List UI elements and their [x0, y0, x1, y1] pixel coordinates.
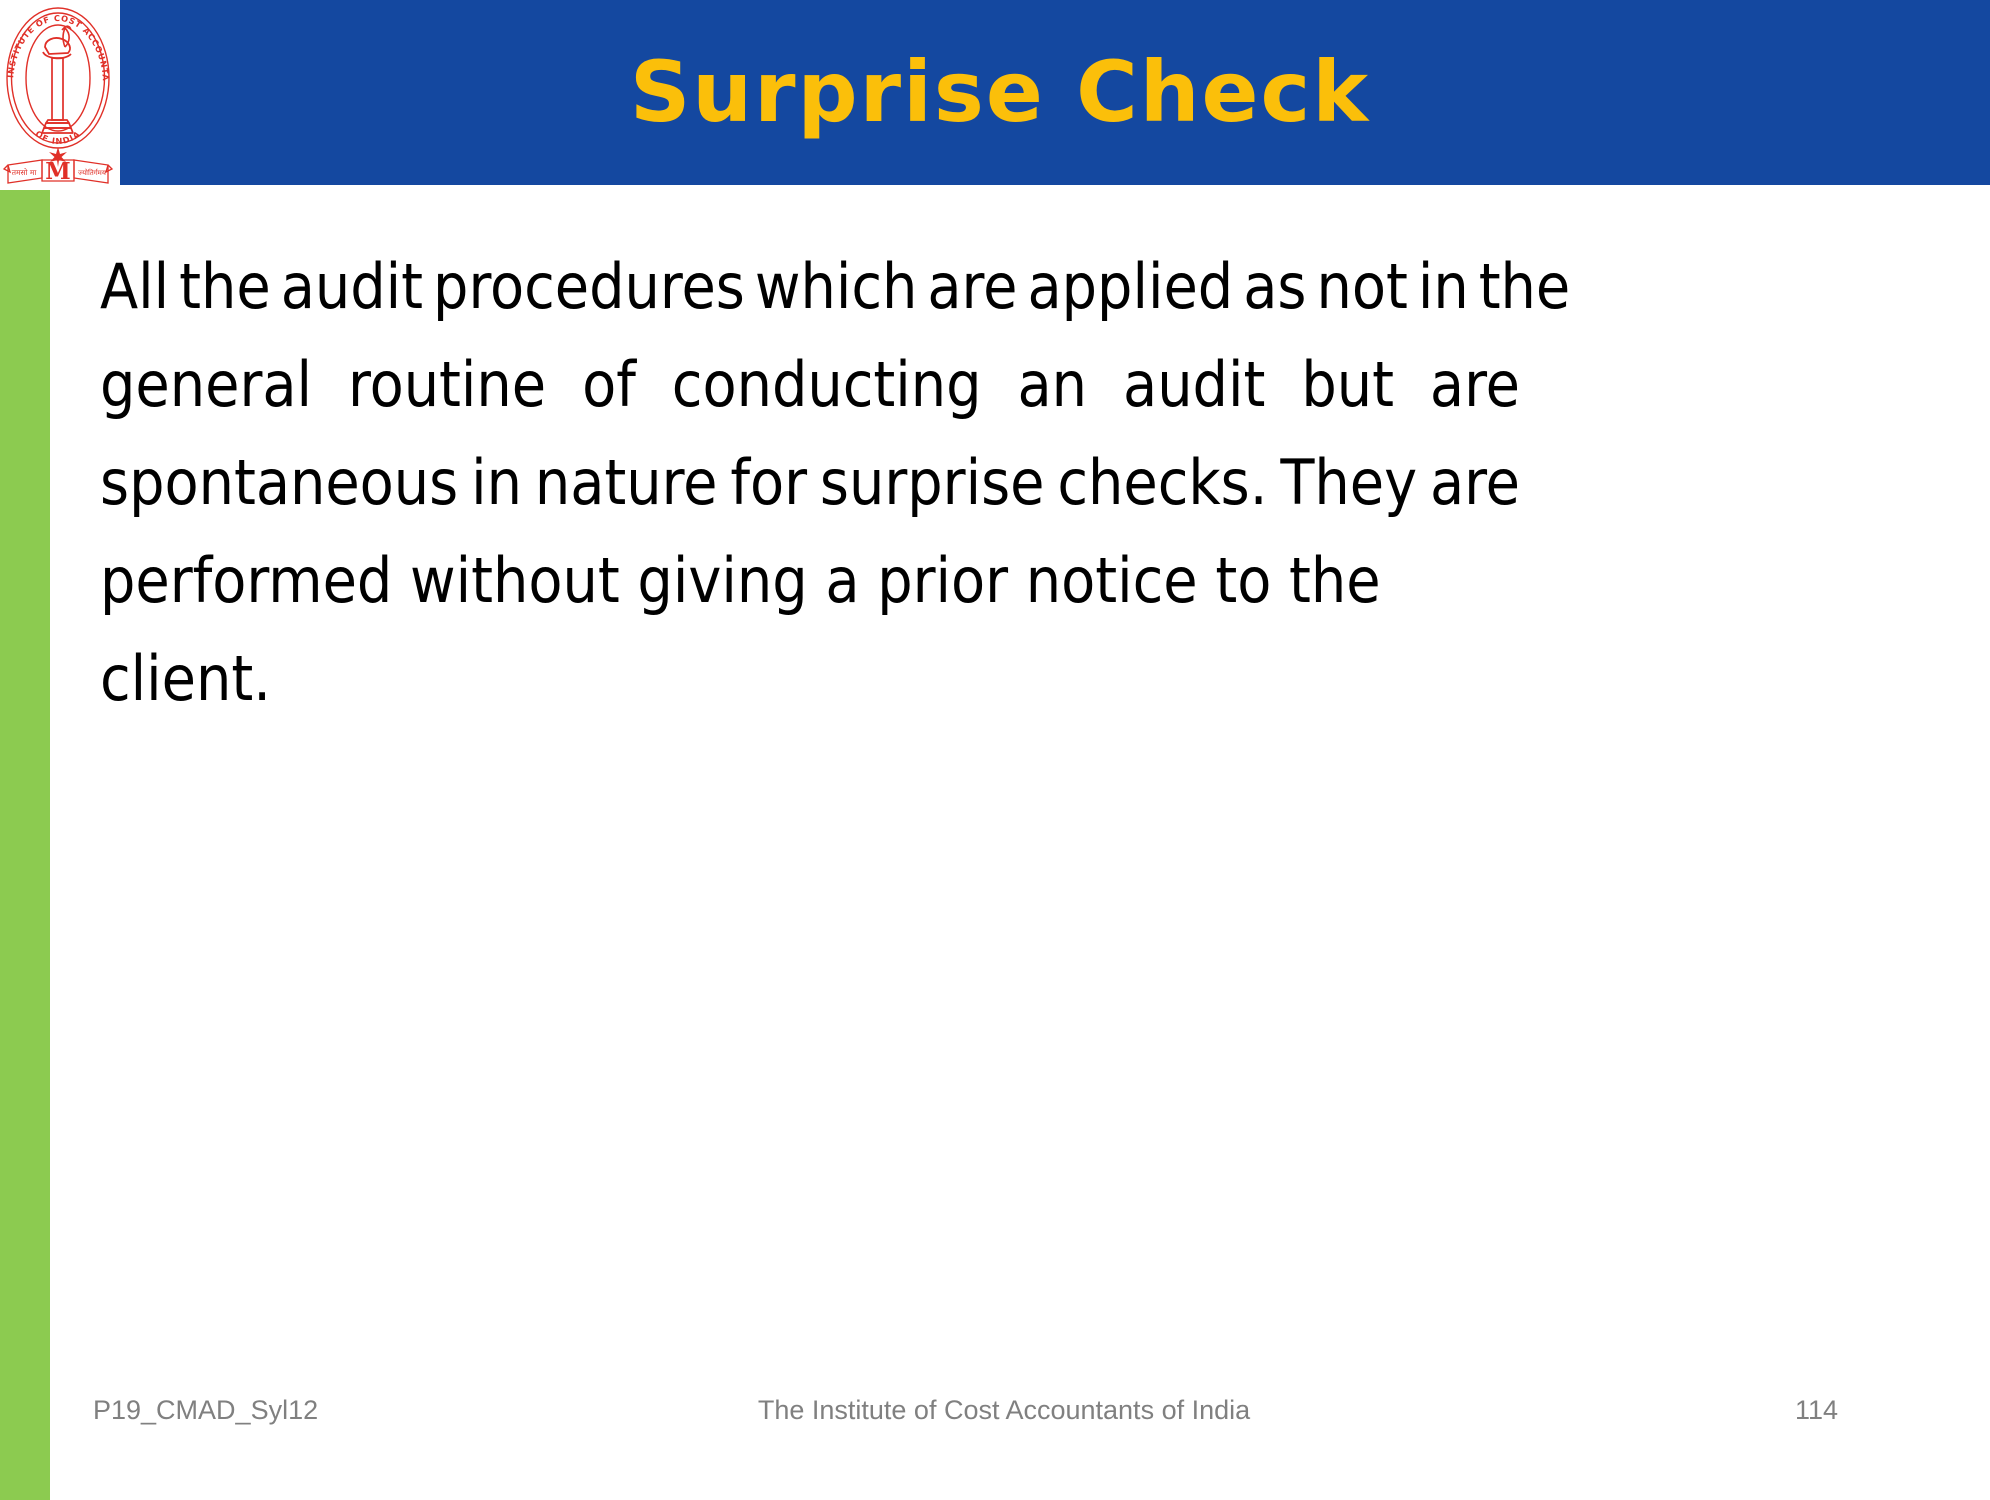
slide-footer: P19_CMAD_Syl12 The Institute of Cost Acc… — [0, 1395, 1990, 1455]
svg-text:तमसो मा: तमसो मा — [12, 168, 38, 177]
footer-institute-name: The Institute of Cost Accountants of Ind… — [0, 1395, 1990, 1426]
left-accent-bar — [0, 190, 50, 1500]
slide-body-text: Alltheauditprocedureswhichareappliedasno… — [100, 238, 1520, 728]
body-line: generalroutineofconductinganauditbutare — [100, 336, 1520, 434]
icai-logo: THE INSTITUTE OF COST ACCOUNTANTS OF IND… — [2, 2, 114, 184]
slide-canvas: Surprise Check THE INSTITUTE OF COST ACC… — [0, 0, 1990, 1500]
body-line: spontaneousinnatureforsurprisechecks.The… — [100, 434, 1520, 532]
title-bar: Surprise Check — [120, 0, 1990, 185]
footer-page-number: 114 — [1795, 1395, 1838, 1426]
svg-text:ज्योतिर्गमय: ज्योतिर्गमय — [78, 168, 107, 177]
svg-text:M: M — [45, 158, 70, 184]
svg-text:THE INSTITUTE OF COST ACCOUNTA: THE INSTITUTE OF COST ACCOUNTANTS — [2, 2, 111, 82]
page-title: Surprise Check — [120, 0, 1990, 185]
body-line: performed without giving a prior notice … — [100, 532, 1520, 728]
body-line: Alltheauditprocedureswhichareappliedasno… — [100, 238, 1520, 336]
